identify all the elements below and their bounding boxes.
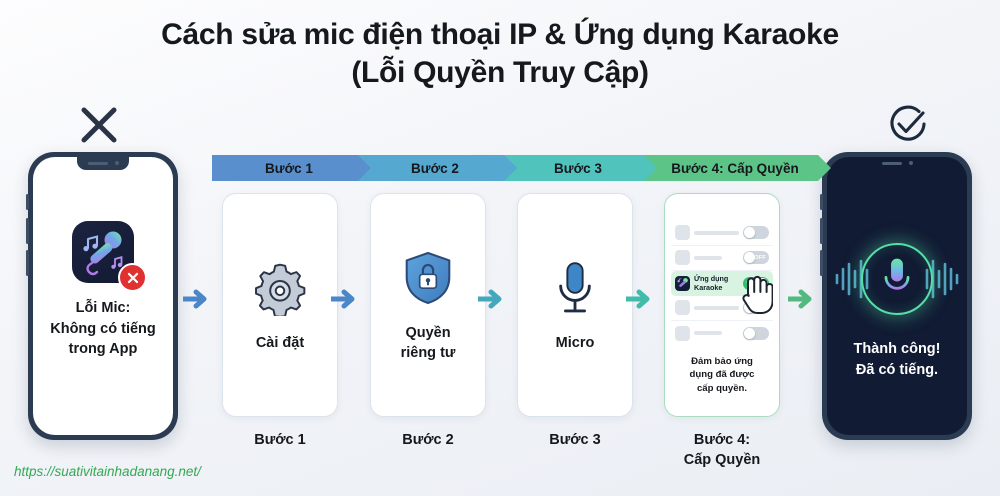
banner-step-4-label: Bước 4: Cấp Quyền (671, 161, 798, 176)
permission-toggle[interactable]: OFF (743, 251, 769, 264)
title-line-2: (Lỗi Quyền Truy Cập) (0, 54, 1000, 92)
banner-step-4[interactable]: Bước 4: Cấp Quyền (644, 155, 818, 181)
microphone-icon (554, 257, 596, 319)
placeholder-text (694, 256, 739, 260)
step-caption-4-line-1: Bước 4: (664, 430, 780, 450)
karaoke-name-line-2: Karaoke (694, 283, 739, 292)
arrow-step3-to-step4 (626, 288, 656, 310)
page-title: Cách sửa mic điện thoại IP & Ứng dụng Ka… (0, 16, 1000, 93)
title-line-1: Cách sửa mic điện thoại IP & Ứng dụng Ka… (0, 16, 1000, 54)
error-caption-line-2: Không có tiếng (50, 319, 156, 340)
app-placeholder-icon (675, 300, 690, 315)
step-progress-banner: Bước 1 Bước 2 Bước 3 Bước 4: Cấp Quyền (212, 155, 818, 181)
step-caption-1: Bước 1 (222, 430, 338, 450)
placeholder-text (694, 331, 739, 335)
placeholder-text (694, 306, 739, 310)
error-caption-line-3: trong App (50, 339, 156, 360)
success-phone: Thành công! Đã có tiếng. (822, 152, 972, 440)
permission-row[interactable] (671, 221, 773, 246)
phone-notch (77, 157, 129, 170)
banner-step-3[interactable]: Bước 3 (504, 155, 644, 181)
banner-step-2[interactable]: Bước 2 (358, 155, 504, 181)
permissions-note-line-1: Đảm bảo ứng (672, 355, 772, 369)
karaoke-app-icon (72, 221, 134, 283)
step-caption-2-line-1: Bước 2 (370, 430, 486, 450)
karaoke-app-name: Ứng dụng Karaoke (694, 274, 739, 292)
permissions-note: Đảm bảo ứng dụng đã được cấp quyền. (672, 355, 772, 396)
step-card-microphone-label: Micro (556, 333, 595, 353)
gear-icon (252, 257, 308, 319)
karaoke-app-icon-small (675, 276, 690, 291)
step-card-privacy-label: Quyền riêng tư (401, 323, 456, 363)
step-card-privacy[interactable]: Quyền riêng tư (370, 193, 486, 417)
app-placeholder-icon (675, 326, 690, 341)
check-circle-icon (886, 102, 930, 146)
success-caption-line-1: Thành công! (854, 339, 941, 360)
error-x-badge-icon (118, 263, 147, 292)
karaoke-name-line-1: Ứng dụng (694, 274, 739, 283)
permission-row[interactable] (671, 321, 773, 346)
privacy-label-line-2: riêng tư (401, 343, 456, 363)
error-caption-line-1: Lỗi Mic: (50, 298, 156, 319)
step-caption-2: Bước 2 (370, 430, 486, 450)
error-phone: Lỗi Mic: Không có tiếng trong App (28, 152, 178, 440)
app-placeholder-icon (675, 225, 690, 240)
app-placeholder-icon (675, 250, 690, 265)
permission-toggle[interactable] (743, 226, 769, 239)
success-phone-caption: Thành công! Đã có tiếng. (854, 339, 941, 381)
step-caption-4: Bước 4: Cấp Quyền (664, 430, 780, 471)
permissions-note-line-3: cấp quyền. (672, 382, 772, 396)
success-caption-line-2: Đã có tiếng. (854, 360, 941, 381)
privacy-label-line-1: Quyền (401, 323, 456, 343)
permission-row[interactable]: OFF (671, 246, 773, 271)
step-caption-3: Bước 3 (517, 430, 633, 450)
banner-step-1-label: Bước 1 (265, 161, 313, 176)
step-card-permissions[interactable]: OFF Ứng dụng Karaoke ON (664, 193, 780, 417)
step-caption-3-line-1: Bước 3 (517, 430, 633, 450)
shield-lock-icon (403, 247, 453, 309)
toggle-off-label: OFF (754, 255, 766, 261)
arrow-step4-to-phone (788, 288, 818, 310)
arrow-phone-to-step1 (183, 288, 213, 310)
error-phone-caption: Lỗi Mic: Không có tiếng trong App (50, 298, 156, 360)
watermark-url: https://suativitainhadanang.net/ (14, 464, 201, 479)
banner-step-1[interactable]: Bước 1 (212, 155, 358, 181)
x-mark-icon (78, 104, 120, 146)
arrow-step1-to-step2 (331, 288, 361, 310)
permission-toggle[interactable] (743, 327, 769, 340)
arrow-step2-to-step3 (478, 288, 508, 310)
permissions-note-line-2: dụng đã được (672, 368, 772, 382)
hand-pointer-icon (737, 272, 773, 314)
step-caption-1-line-1: Bước 1 (222, 430, 338, 450)
phone-notch (871, 157, 923, 170)
step-card-settings[interactable]: Cài đặt (222, 193, 338, 417)
step-card-settings-label: Cài đặt (256, 333, 304, 353)
banner-step-2-label: Bước 2 (411, 161, 459, 176)
step-card-microphone[interactable]: Micro (517, 193, 633, 417)
microphone-glow-icon (831, 235, 963, 323)
banner-step-3-label: Bước 3 (554, 161, 602, 176)
step-caption-4-line-2: Cấp Quyền (664, 450, 780, 470)
placeholder-text (694, 231, 739, 235)
